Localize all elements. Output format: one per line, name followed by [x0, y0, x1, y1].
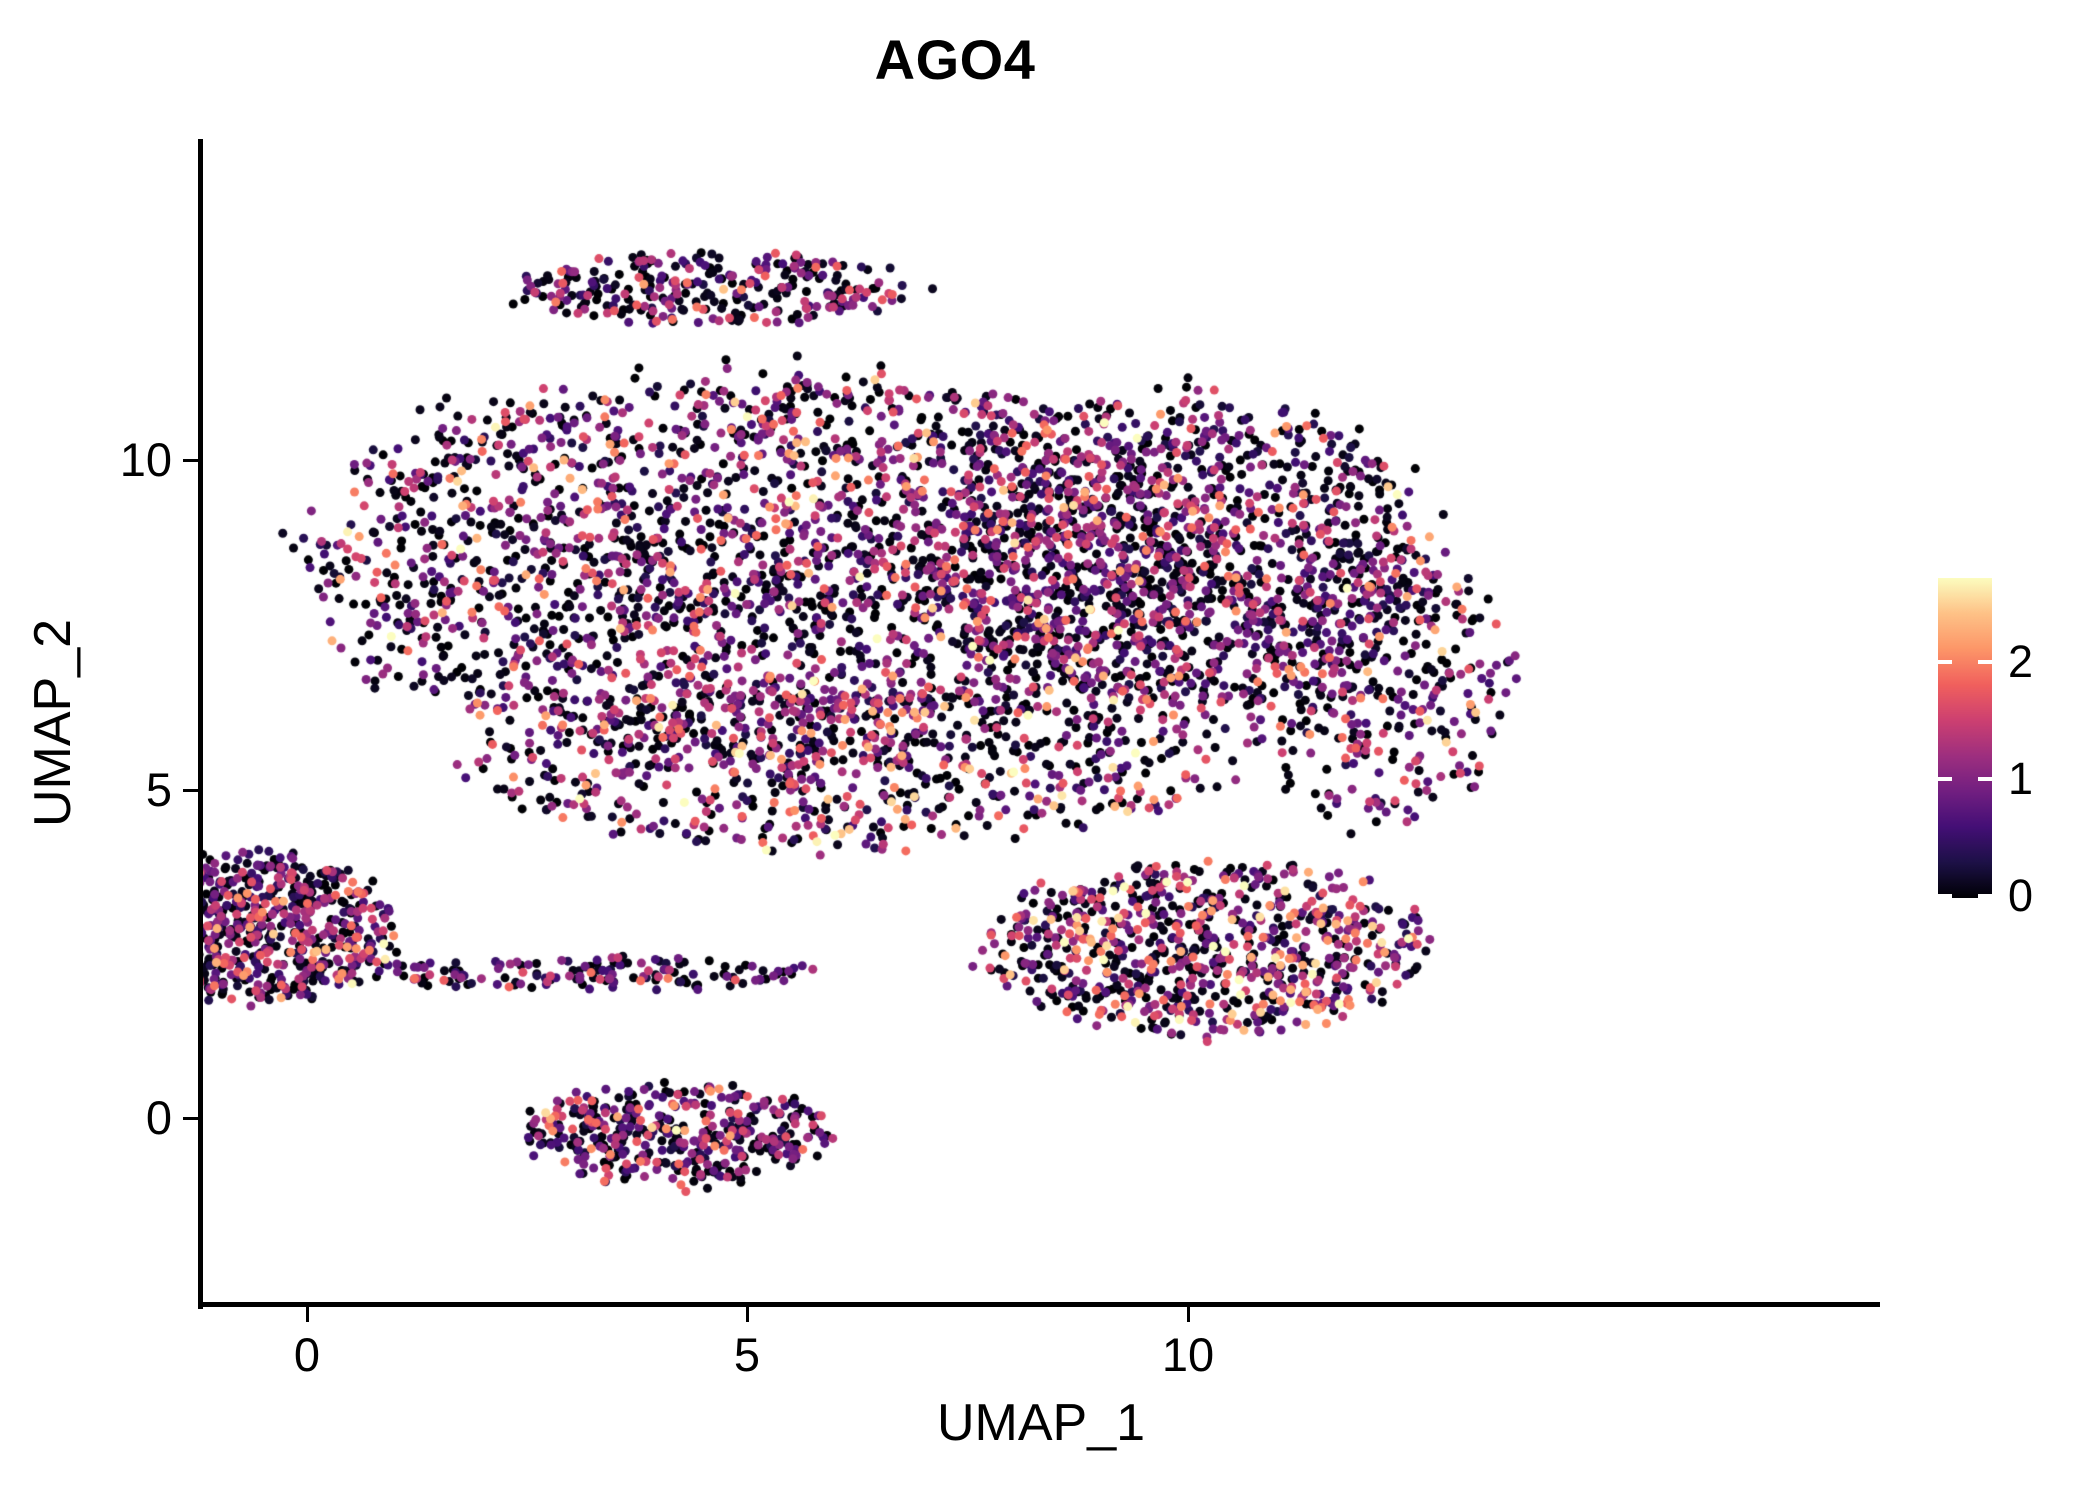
y-tick-mark [183, 789, 198, 792]
colorbar-tick-mark [1978, 777, 1992, 781]
y-tick-mark [183, 1117, 198, 1120]
umap-feature-plot: AGO4 0 5 10 10 5 0 UMAP_1 UMAP_2 2 1 0 [0, 0, 2100, 1500]
colorbar-gradient [1938, 578, 1992, 898]
x-axis-line [198, 1302, 1880, 1307]
x-tick-mark [306, 1307, 309, 1322]
colorbar-tick-mark [1978, 660, 1992, 664]
colorbar-tick-mark [1938, 660, 1952, 664]
plot-panel[interactable] [202, 139, 1880, 1305]
x-tick-label: 5 [677, 1328, 817, 1382]
colorbar-tick-label: 1 [2008, 754, 2033, 804]
colorbar-tick-label: 0 [2008, 871, 2033, 921]
x-tick-label: 0 [237, 1328, 377, 1382]
y-axis-line [198, 139, 203, 1309]
x-tick-mark [746, 1307, 749, 1322]
y-axis-title: UMAP_2 [22, 140, 84, 1306]
page-title: AGO4 [0, 28, 1910, 92]
x-tick-mark [1187, 1307, 1190, 1322]
x-tick-label: 10 [1118, 1328, 1258, 1382]
colorbar-tick-mark [1938, 894, 1952, 898]
colorbar-tick-mark [1978, 894, 1992, 898]
colorbar-tick-mark [1938, 777, 1952, 781]
x-axis-title: UMAP_1 [202, 1392, 1880, 1454]
scatter-points-layer[interactable] [202, 139, 1880, 1305]
y-tick-mark [183, 459, 198, 462]
colorbar-legend[interactable]: 2 1 0 [1938, 578, 2088, 898]
colorbar-tick-label: 2 [2008, 637, 2033, 687]
